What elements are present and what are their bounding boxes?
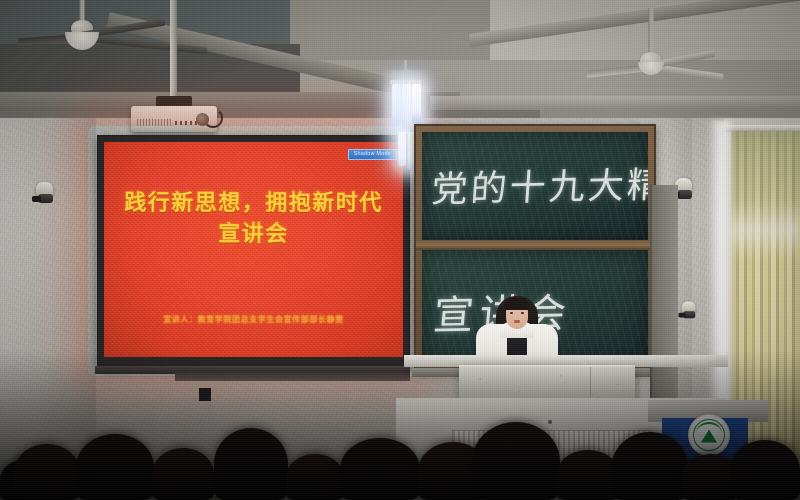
projection-screen: Shadow Mode 践行新思想，拥抱新时代 宣讲会 宣讲人：教育学院团总支学… [97, 135, 410, 367]
fluorescent-tube [402, 84, 411, 130]
fan-light [638, 62, 664, 75]
fan-light [65, 32, 99, 50]
projector-cable [203, 108, 223, 128]
fluorescent-tube [398, 132, 406, 166]
security-camera-far-right [682, 302, 696, 314]
slide-title-line-1: 践行新思想，拥抱新时代 [104, 188, 403, 219]
shadow-mode-badge[interactable]: Shadow Mode [348, 149, 397, 160]
slide-surface: Shadow Mode 践行新思想，拥抱新时代 宣讲会 宣讲人：教育学院团总支学… [104, 142, 403, 357]
stage-vent-grille [452, 430, 652, 484]
ceiling-fan-left [22, 0, 142, 60]
projector-mount-pole [170, 0, 177, 100]
wall-socket[interactable] [199, 388, 211, 401]
slide-title-line-2: 宣讲会 [104, 219, 403, 250]
presenter-fringe [504, 298, 530, 310]
stage-fixing-dot [548, 420, 552, 424]
fluorescent-tube [412, 84, 421, 124]
emblem-mark [701, 429, 717, 442]
ceiling-slab-mid [290, 0, 490, 60]
security-camera-left [36, 182, 53, 197]
slide-title: 践行新思想，拥抱新时代 宣讲会 [104, 188, 403, 250]
fan-rod [649, 8, 654, 54]
doorway-edge [650, 185, 678, 400]
classroom-photo-scene: Shadow Mode 践行新思想，拥抱新时代 宣讲会 宣讲人：教育学院团总支学… [0, 0, 800, 500]
slide-subtitle: 宣讲人：教育学院团总支学生会宣传部部长静雯 [104, 314, 403, 325]
wall-pillar-left [0, 118, 96, 500]
fan-rod [80, 0, 85, 22]
presenter-eye [510, 312, 513, 314]
presenter-mouth [514, 320, 520, 323]
curtain-highlight [731, 200, 800, 260]
blackboard-heading-text: 党的十九大精神 [430, 155, 648, 213]
camera-lens [32, 196, 41, 202]
ceiling-fan-right [586, 8, 716, 78]
presenter-eye [521, 312, 524, 314]
blackboard-panel-top: 党的十九大精神 [422, 132, 648, 240]
fluorescent-tube [392, 84, 401, 126]
ceiling-beam-horizontal [0, 92, 460, 110]
blackboard-divider [416, 240, 654, 250]
school-emblem [688, 414, 730, 456]
screen-shelf [175, 372, 410, 381]
camera-lens [679, 313, 686, 318]
projector-vent [137, 119, 171, 126]
